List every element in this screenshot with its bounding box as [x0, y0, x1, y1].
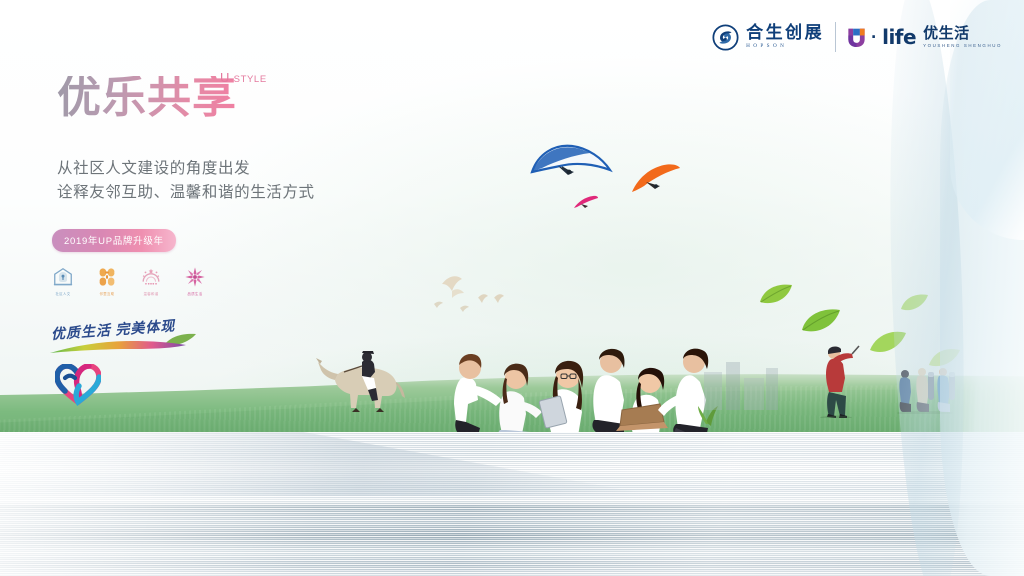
hang-glider-pink-icon — [573, 195, 599, 211]
person — [452, 354, 502, 440]
feature-icon-1[interactable]: 社区人文 — [50, 266, 76, 296]
title-superscript-u: U — [220, 70, 230, 85]
house-shield-icon — [52, 266, 74, 288]
slide-canvas: 合生创展 HOPSON · life 优生活 YOUSHENG SHENGHUO… — [0, 0, 1024, 576]
feature-icon-2-label: 邻里互助 — [100, 291, 115, 296]
four-dots-icon — [96, 266, 118, 288]
ulife-chinese: 优生活 — [923, 26, 1002, 41]
hopson-wordmark: 合生创展 HOPSON — [746, 24, 824, 49]
hang-glider-orange-icon — [630, 162, 682, 196]
u-letter-icon — [847, 27, 866, 48]
logo-divider — [835, 22, 836, 52]
feature-icon-3[interactable]: 温馨和谐 — [138, 266, 164, 296]
hang-glider-blue-icon — [528, 142, 614, 194]
page-title: 优乐共享 — [57, 76, 237, 120]
person — [592, 349, 624, 434]
hopson-pinyin: HOPSON — [746, 44, 824, 49]
silver-stripe-band — [0, 432, 1024, 576]
ulife-chinese-block: 优生活 YOUSHENG SHENGHUO — [923, 26, 1002, 48]
slogan-block: 优质生活 完美体现 — [48, 322, 188, 356]
hopson-logo[interactable]: 合生创展 HOPSON — [712, 24, 824, 51]
arch-rainbow-icon — [140, 266, 162, 288]
title-superscript-style: -STYLE — [230, 74, 267, 85]
person — [498, 364, 542, 440]
feature-icon-2[interactable]: 邻里互助 — [94, 266, 120, 296]
ulife-dot-icon: · — [871, 27, 877, 48]
ulife-wordmark: life — [882, 25, 916, 49]
feature-icon-4-label: 品质生活 — [188, 291, 203, 296]
background-buildings — [700, 358, 780, 410]
hopson-chinese: 合生创展 — [746, 24, 824, 41]
people-group-on-grass — [444, 334, 720, 442]
rainbow-swoosh-icon — [48, 336, 188, 356]
band-sheen — [0, 432, 1024, 576]
ribbon-heart-icon — [55, 364, 101, 406]
subtitle-line-2: 诠释友邻互助、温馨和谐的生活方式 — [57, 181, 315, 205]
ulife-logo[interactable]: · life 优生活 YOUSHENG SHENGHUO — [847, 25, 1002, 49]
feature-icon-4[interactable]: 品质生活 — [182, 266, 208, 296]
hero-title-block: 优乐共享 U-STYLE — [57, 76, 237, 120]
birds-flock-icon — [428, 272, 532, 320]
green-leaf-icon — [758, 282, 794, 308]
header-logos: 合生创展 HOPSON · life 优生活 YOUSHENG SHENGHUO — [712, 22, 1002, 52]
feature-icon-1-label: 社区人文 — [56, 291, 71, 296]
ulife-pinyin: YOUSHENG SHENGHUO — [923, 44, 1002, 48]
person — [539, 361, 584, 442]
horse-rider-icon — [312, 348, 408, 414]
status-badge: 2019年UP品牌升级年 — [52, 229, 176, 252]
feature-icon-3-label: 温馨和谐 — [144, 291, 159, 296]
golfer-swinging-icon — [812, 344, 860, 418]
title-superscript: U-STYLE — [220, 70, 267, 85]
flower-burst-icon — [184, 266, 206, 288]
green-leaf-icon — [800, 306, 842, 336]
hero-subtitle: 从社区人文建设的角度出发 诠释友邻互助、温馨和谐的生活方式 — [57, 157, 315, 205]
feature-icon-row: 社区人文 邻里互助 — [50, 266, 208, 296]
swirl-icon — [712, 24, 739, 51]
subtitle-line-1: 从社区人文建设的角度出发 — [57, 157, 315, 181]
